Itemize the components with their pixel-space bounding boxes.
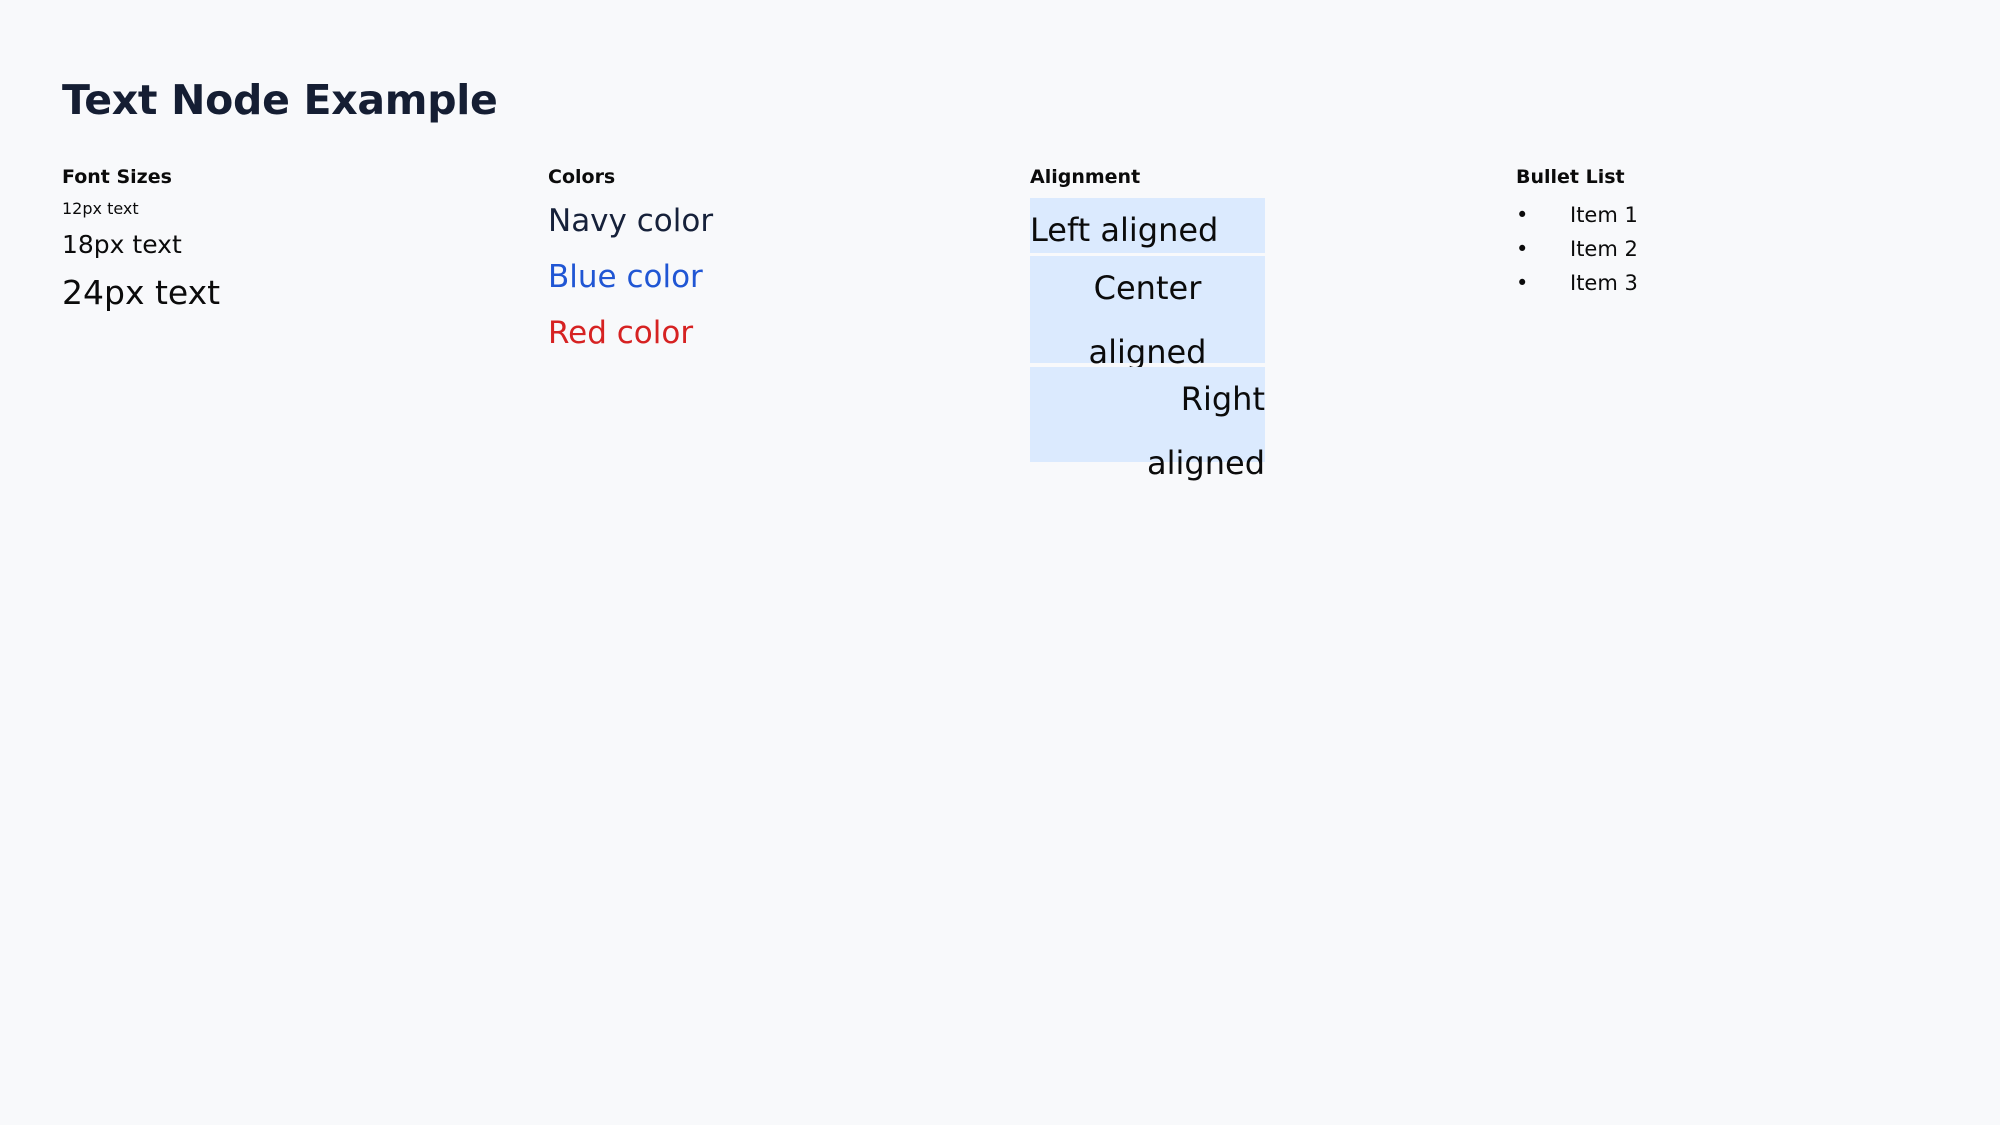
font-size-sample-24: 24px text — [62, 271, 502, 315]
list-item: • Item 1 — [1516, 198, 1956, 232]
bullet-list: • Item 1 • Item 2 • Item 3 — [1516, 198, 1956, 300]
alignment-heading: Alignment — [1030, 166, 1470, 188]
font-sizes-column: Font Sizes 12px text 18px text 24px text — [62, 166, 502, 315]
list-item-label: Item 2 — [1570, 237, 1638, 261]
alignment-text-right: Right aligned — [1105, 367, 1265, 495]
alignment-box-left: Left aligned — [1030, 198, 1265, 253]
color-sample-navy: Navy color — [548, 200, 988, 242]
list-item: • Item 3 — [1516, 266, 1956, 300]
bullet-dot-icon: • — [1516, 266, 1530, 300]
color-sample-blue: Blue color — [548, 256, 988, 298]
bullet-dot-icon: • — [1516, 198, 1530, 232]
alignment-box-right: Right aligned — [1030, 367, 1265, 462]
list-item-label: Item 3 — [1570, 271, 1638, 295]
alignment-box-center: Center aligned — [1030, 256, 1265, 363]
bullet-list-heading: Bullet List — [1516, 166, 1956, 188]
colors-column: Colors Navy color Blue color Red color — [548, 166, 988, 354]
page-title: Text Node Example — [62, 76, 498, 124]
list-item-label: Item 1 — [1570, 203, 1638, 227]
bullet-list-column: Bullet List • Item 1 • Item 2 • Item 3 — [1516, 166, 1956, 300]
alignment-text-left: Left aligned — [1030, 198, 1265, 262]
colors-heading: Colors — [548, 166, 988, 188]
font-size-sample-18: 18px text — [62, 228, 502, 262]
font-sizes-heading: Font Sizes — [62, 166, 502, 188]
font-size-sample-12: 12px text — [62, 198, 502, 220]
list-item: • Item 2 — [1516, 232, 1956, 266]
bullet-dot-icon: • — [1516, 232, 1530, 266]
alignment-text-center: Center aligned — [1058, 256, 1238, 384]
alignment-column: Alignment Left aligned Center aligned Ri… — [1030, 166, 1470, 198]
color-sample-red: Red color — [548, 312, 988, 354]
